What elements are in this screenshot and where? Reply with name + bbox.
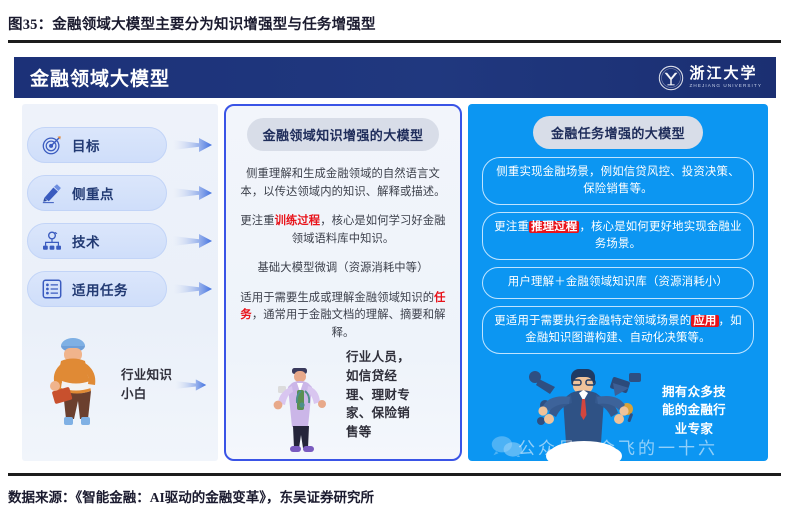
- student-novice-illustration: [33, 337, 119, 433]
- attribute-pill-focus: 侧重点: [27, 175, 167, 211]
- attribute-pill-target: 目标: [27, 127, 167, 163]
- row-text-highlight: 训练过程: [275, 215, 321, 227]
- attribute-row: 侧重点: [27, 174, 213, 212]
- card-text-post: ，核心是如何更好地实现金融业务场景。: [579, 221, 741, 250]
- source-divider: [8, 473, 781, 476]
- checklist-icon: [41, 278, 63, 300]
- card-text-highlight: 应用: [691, 315, 718, 327]
- attribute-label: 技术: [72, 231, 100, 251]
- attribute-label: 侧重点: [72, 183, 114, 203]
- knowledge-row-goal: 侧重理解和生成金融领域的自然语言文本，以传达领域内的知识、解释或描述。: [235, 160, 451, 207]
- left-illustration-caption: 行业知识小白: [121, 366, 173, 402]
- data-source-text: 数据来源：《智能金融：AI驱动的金融变革》，东吴证券研究所: [8, 482, 781, 510]
- task-card-technology: 用户理解＋金融领域知识库（资源消耗小）: [482, 267, 754, 298]
- row-text-post: ，通常用于金融文档的理解、摘要和解释。: [252, 309, 446, 339]
- figure-page: 图35：金融领域大模型主要分为知识增强型与任务增强型 金融领域大模型 浙江大学 …: [0, 0, 789, 518]
- arrow-right-icon: [175, 377, 207, 393]
- arrow-right-icon: [173, 184, 213, 202]
- caption-divider: [8, 40, 781, 43]
- zju-emblem-icon: [658, 65, 684, 91]
- network-icon: [41, 230, 63, 252]
- card-text-pre: 侧重实现金融场景，例如信贷风控、投资决策、保险销售等。: [496, 166, 739, 195]
- attribute-row: 技术: [27, 222, 213, 260]
- arrow-right-icon: [173, 136, 213, 154]
- zhejiang-university-logo: 浙江大学 ZHEJIANG UNIVERSITY: [658, 65, 762, 91]
- professional-person-illustration: [264, 364, 342, 456]
- arrow-right-icon: [173, 232, 213, 250]
- target-icon: [41, 134, 63, 156]
- row-text-pre: 更注重: [240, 215, 274, 227]
- zju-name-cn: 浙江大学: [690, 67, 758, 82]
- figure-container: 金融领域大模型 浙江大学 ZHEJIANG UNIVERSITY: [14, 57, 776, 465]
- task-card-focus: 更注重推理过程，核心是如何更好地实现金融业务场景。: [482, 212, 754, 260]
- attribute-label: 适用任务: [72, 279, 128, 299]
- multi-skilled-expert-illustration: [509, 361, 659, 461]
- figure-body: 目标 侧重点: [14, 98, 776, 465]
- knowledge-column-heading: 金融领域知识增强的大模型: [247, 118, 440, 151]
- arrow-right-icon: [173, 280, 213, 298]
- right-illustration: 拥有众多技能的金融行业专家 公众号：会飞的一十六: [482, 361, 754, 461]
- attribute-pill-tasks: 适用任务: [27, 271, 167, 307]
- left-illustration: 行业知识小白: [27, 318, 213, 455]
- card-text-pre: 更注重: [494, 221, 529, 233]
- attribute-pill-technology: 技术: [27, 223, 167, 259]
- wechat-icon: [490, 435, 524, 457]
- card-text-pre: 更适用于需要执行金融特定领域场景的: [494, 315, 691, 327]
- left-attribute-column: 目标 侧重点: [22, 104, 218, 461]
- row-text-pre: 适用于需要生成或理解金融领域知识的: [240, 292, 434, 304]
- attribute-row: 目标: [27, 126, 213, 164]
- knowledge-row-focus: 更注重训练过程，核心是如何学习好金融领域语料库中知识。: [235, 207, 451, 254]
- row-text-pre: 基础大模型微调（资源消耗中等）: [258, 262, 429, 274]
- task-column-heading: 金融任务增强的大模型: [533, 116, 703, 149]
- middle-illustration: 行业人员，如信贷经理、理财专家、保险销售等: [235, 348, 451, 458]
- knowledge-row-tasks: 适用于需要生成或理解金融领域知识的任务，通常用于金融文档的理解、摘要和解释。: [235, 284, 451, 349]
- attribute-row: 适用任务: [27, 270, 213, 308]
- knowledge-enhanced-column: 金融领域知识增强的大模型 侧重理解和生成金融领域的自然语言文本，以传达领域内的知…: [224, 104, 462, 461]
- task-enhanced-column: 金融任务增强的大模型 侧重实现金融场景，例如信贷风控、投资决策、保险销售等。 更…: [468, 104, 768, 461]
- knowledge-row-technology: 基础大模型微调（资源消耗中等）: [235, 254, 451, 284]
- card-text-pre: 用户理解＋金融领域知识库（资源消耗小）: [508, 276, 728, 288]
- row-text-pre: 侧重理解和生成金融领域的自然语言文本，以传达领域内的知识、解释或描述。: [240, 168, 445, 198]
- middle-illustration-caption: 行业人员，如信贷经理、理财专家、保险销售等: [346, 348, 422, 442]
- card-text-highlight: 推理过程: [529, 221, 579, 233]
- zju-wordmark: 浙江大学 ZHEJIANG UNIVERSITY: [690, 67, 762, 89]
- pencil-icon: [41, 182, 63, 204]
- task-card-application: 更适用于需要执行金融特定领域场景的应用，如金融知识图谱构建、自动化决策等。: [482, 306, 754, 354]
- figure-title: 金融领域大模型: [30, 64, 170, 91]
- zju-name-en: ZHEJIANG UNIVERSITY: [690, 84, 762, 89]
- attribute-label: 目标: [72, 135, 100, 155]
- figure-header-band: 金融领域大模型 浙江大学 ZHEJIANG UNIVERSITY: [14, 57, 776, 98]
- right-illustration-caption: 拥有众多技能的金融行业专家: [661, 383, 727, 439]
- figure-caption: 图35：金融领域大模型主要分为知识增强型与任务增强型: [8, 8, 781, 38]
- task-card-goal: 侧重实现金融场景，例如信贷风控、投资决策、保险销售等。: [482, 157, 754, 205]
